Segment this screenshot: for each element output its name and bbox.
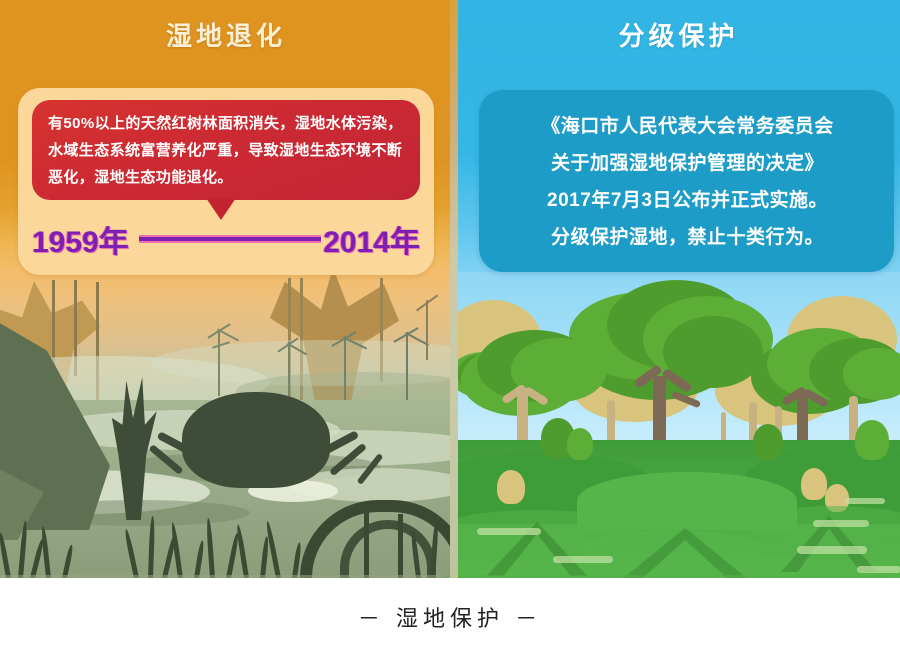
left-arching-root-leg [398,514,403,578]
ground-shrub-tan [497,470,525,504]
ground-shrub [753,424,783,460]
panel-divider [450,0,458,578]
regulation-line-2: 关于加强湿地保护管理的决定》 [479,145,894,182]
left-dead-mangrove-root-mass [182,392,330,488]
water-highlight [477,528,541,535]
left-header-title: 湿地退化 [0,16,452,53]
timeline-start-year: 1959年 [32,217,129,261]
left-dead-tree-trunk [218,330,220,396]
water-highlight [797,546,867,554]
right-info-card: 《海口市人民代表大会常务委员会 关于加强湿地保护管理的决定》 2017年7月3日… [479,90,894,272]
left-arching-root-leg [364,512,369,578]
left-dead-tree-trunk [426,300,428,360]
infographic-poster: 湿地退化 有50%以上的天然红树林面积消失，湿地水体污染，水域生态系统富营养化严… [0,0,900,655]
left-info-card: 有50%以上的天然红树林面积消失，湿地水体污染，水域生态系统富营养化严重，导致湿… [18,88,434,275]
regulation-line-4: 分级保护湿地，禁止十类行为。 [479,219,894,256]
degradation-callout-box: 有50%以上的天然红树林面积消失，湿地水体污染，水域生态系统富营养化严重，导致湿… [32,100,420,200]
ground-shrub [855,420,889,460]
timeline-row: 1959年 2014年 [32,213,420,265]
water-highlight [813,520,869,527]
footer-bar: － 湿地保护 － [0,578,900,655]
regulation-line-1: 《海口市人民代表大会常务委员会 [479,90,894,145]
timeline-dashed-line [139,235,314,243]
water-highlight [553,556,613,563]
left-dead-tree-trunk [344,336,346,408]
water-highlight [845,498,885,504]
right-panel-graded-protection: 分级保护 《海口市人民代表大会常务委员会 关于加强湿地保护管理的决定》 2017… [457,0,900,578]
right-header-title: 分级保护 [457,16,900,53]
ground-shrub-tan [801,468,827,500]
ground-shrub [567,428,593,460]
footer-caption: － 湿地保护 － [358,601,542,633]
left-panel-wetland-degradation: 湿地退化 有50%以上的天然红树林面积消失，湿地水体污染，水域生态系统富营养化严… [0,0,452,578]
left-dead-tree-trunk [406,332,408,406]
timeline-end-year: 2014年 [323,217,420,261]
regulation-line-3: 2017年7月3日公布并正式实施。 [479,182,894,219]
degradation-callout-text: 有50%以上的天然红树林面积消失，湿地水体污染，水域生态系统富营养化严重，导致湿… [32,100,420,191]
water-highlight [857,566,900,573]
